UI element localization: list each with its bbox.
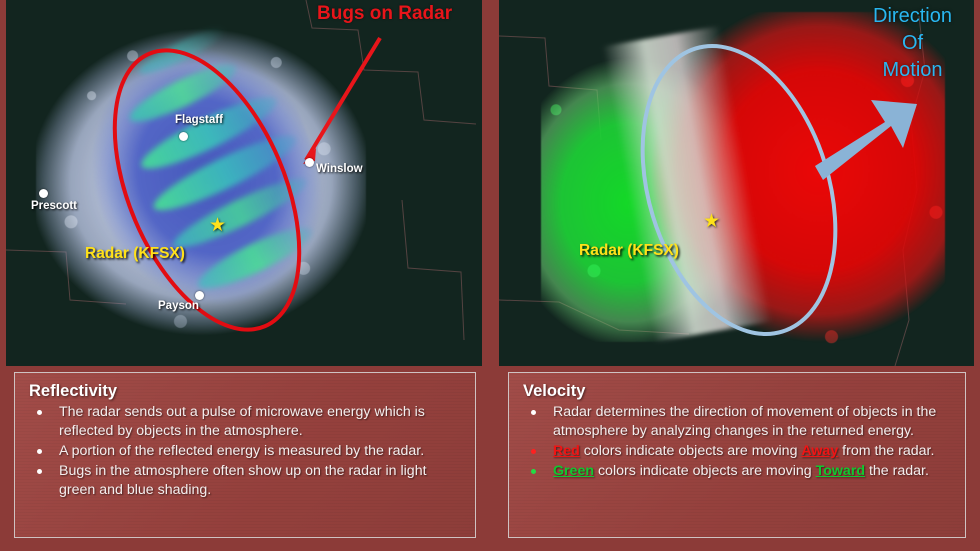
bullet-marker [37,449,42,454]
velocity-bullet-list: Radar determines the direction of moveme… [519,403,953,481]
motion-line-2: Of [855,30,970,57]
city-dot-flagstaff [179,132,188,141]
city-dot-prescott [39,189,48,198]
slide-canvas: Bugs on Radar Flagstaff Winslow Prescott… [0,0,980,551]
list-item: Red colors indicate objects are moving A… [519,442,953,461]
bugs-callout-arrow [6,0,482,366]
keyword-red: Red [553,443,580,459]
velocity-text-panel: Velocity Radar determines the direction … [508,372,966,538]
list-item: Radar determines the direction of moveme… [519,403,953,441]
radar-site-star-icon: ★ [209,216,226,235]
list-item: A portion of the reflected energy is mea… [25,442,463,461]
bullet-text: Bugs in the atmosphere often show up on … [59,463,427,498]
motion-line-3: Motion [855,57,970,84]
direction-of-motion-label: Direction Of Motion [855,3,970,84]
radar-images-area: Bugs on Radar Flagstaff Winslow Prescott… [0,0,980,366]
bullet-marker [531,410,536,415]
velocity-radar-image[interactable]: Direction Of Motion ★ Radar (KFSX) [499,0,974,366]
bullet-text-part: colors indicate objects are moving [580,443,802,459]
bullet-text: The radar sends out a pulse of microwave… [59,404,425,439]
list-item: Bugs in the atmosphere often show up on … [25,462,463,500]
keyword-green: Green [553,463,594,479]
list-item: The radar sends out a pulse of microwave… [25,403,463,441]
motion-line-1: Direction [855,3,970,30]
keyword-away: Away [801,443,838,459]
city-label-payson: Payson [158,300,199,312]
city-label-winslow: Winslow [316,163,363,175]
reflectivity-text-panel: Reflectivity The radar sends out a pulse… [14,372,476,538]
bullet-text: A portion of the reflected energy is mea… [59,443,424,459]
city-dot-winslow [305,158,314,167]
bullet-text-part: the radar. [865,463,929,479]
bullet-text-part: colors indicate objects are moving [594,463,816,479]
bullet-text-part: from the radar. [838,443,934,459]
radar-site-star-icon: ★ [703,212,720,231]
bullet-marker [531,449,536,454]
bugs-on-radar-callout: Bugs on Radar [317,3,452,25]
bullet-text: Green colors indicate objects are moving… [553,463,929,479]
radar-site-label-left: Radar (KFSX) [85,245,185,263]
reflectivity-bullet-list: The radar sends out a pulse of microwave… [25,403,463,499]
panel-title-velocity: Velocity [523,382,953,401]
bullet-text: Radar determines the direction of moveme… [553,404,936,439]
keyword-toward: Toward [816,463,865,479]
bullet-marker [37,469,42,474]
radar-site-label-right: Radar (KFSX) [579,242,679,260]
bullet-marker [37,410,42,415]
bullet-marker [531,469,536,474]
panel-title-reflectivity: Reflectivity [29,382,463,401]
city-dot-payson [195,291,204,300]
reflectivity-radar-image[interactable]: Bugs on Radar Flagstaff Winslow Prescott… [6,0,482,366]
city-label-prescott: Prescott [31,200,77,212]
city-label-flagstaff: Flagstaff [175,114,223,126]
bullet-text: Red colors indicate objects are moving A… [553,443,934,459]
list-item: Green colors indicate objects are moving… [519,462,953,481]
